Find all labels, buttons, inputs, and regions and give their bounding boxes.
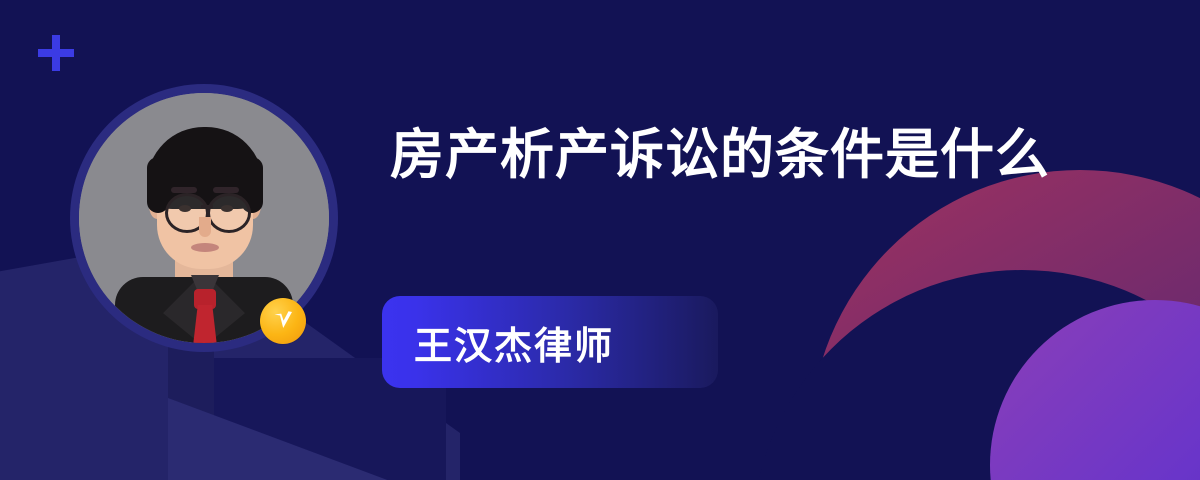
portrait-fringe [159, 151, 251, 177]
page-title: 房产析产诉讼的条件是什么 [390, 122, 1090, 188]
lawyer-name-button[interactable]: 王汉杰律师 [382, 296, 718, 388]
lawyer-qa-banner: 房产析产诉讼的条件是什么 王汉杰律师 [0, 0, 1200, 480]
decorative-ring-arc [810, 170, 1200, 480]
portrait-glasses-right-lens [207, 193, 251, 233]
portrait-mouth [191, 243, 219, 252]
plus-icon [38, 35, 74, 71]
decorative-triangle [168, 398, 398, 480]
verified-check-icon [260, 298, 306, 344]
portrait-nose [199, 217, 211, 237]
decorative-purple-blob [990, 300, 1200, 480]
decorative-ring-cutout [752, 270, 1200, 480]
plus-icon-vertical-bar [52, 35, 60, 71]
portrait-glasses-bridge [201, 205, 213, 208]
